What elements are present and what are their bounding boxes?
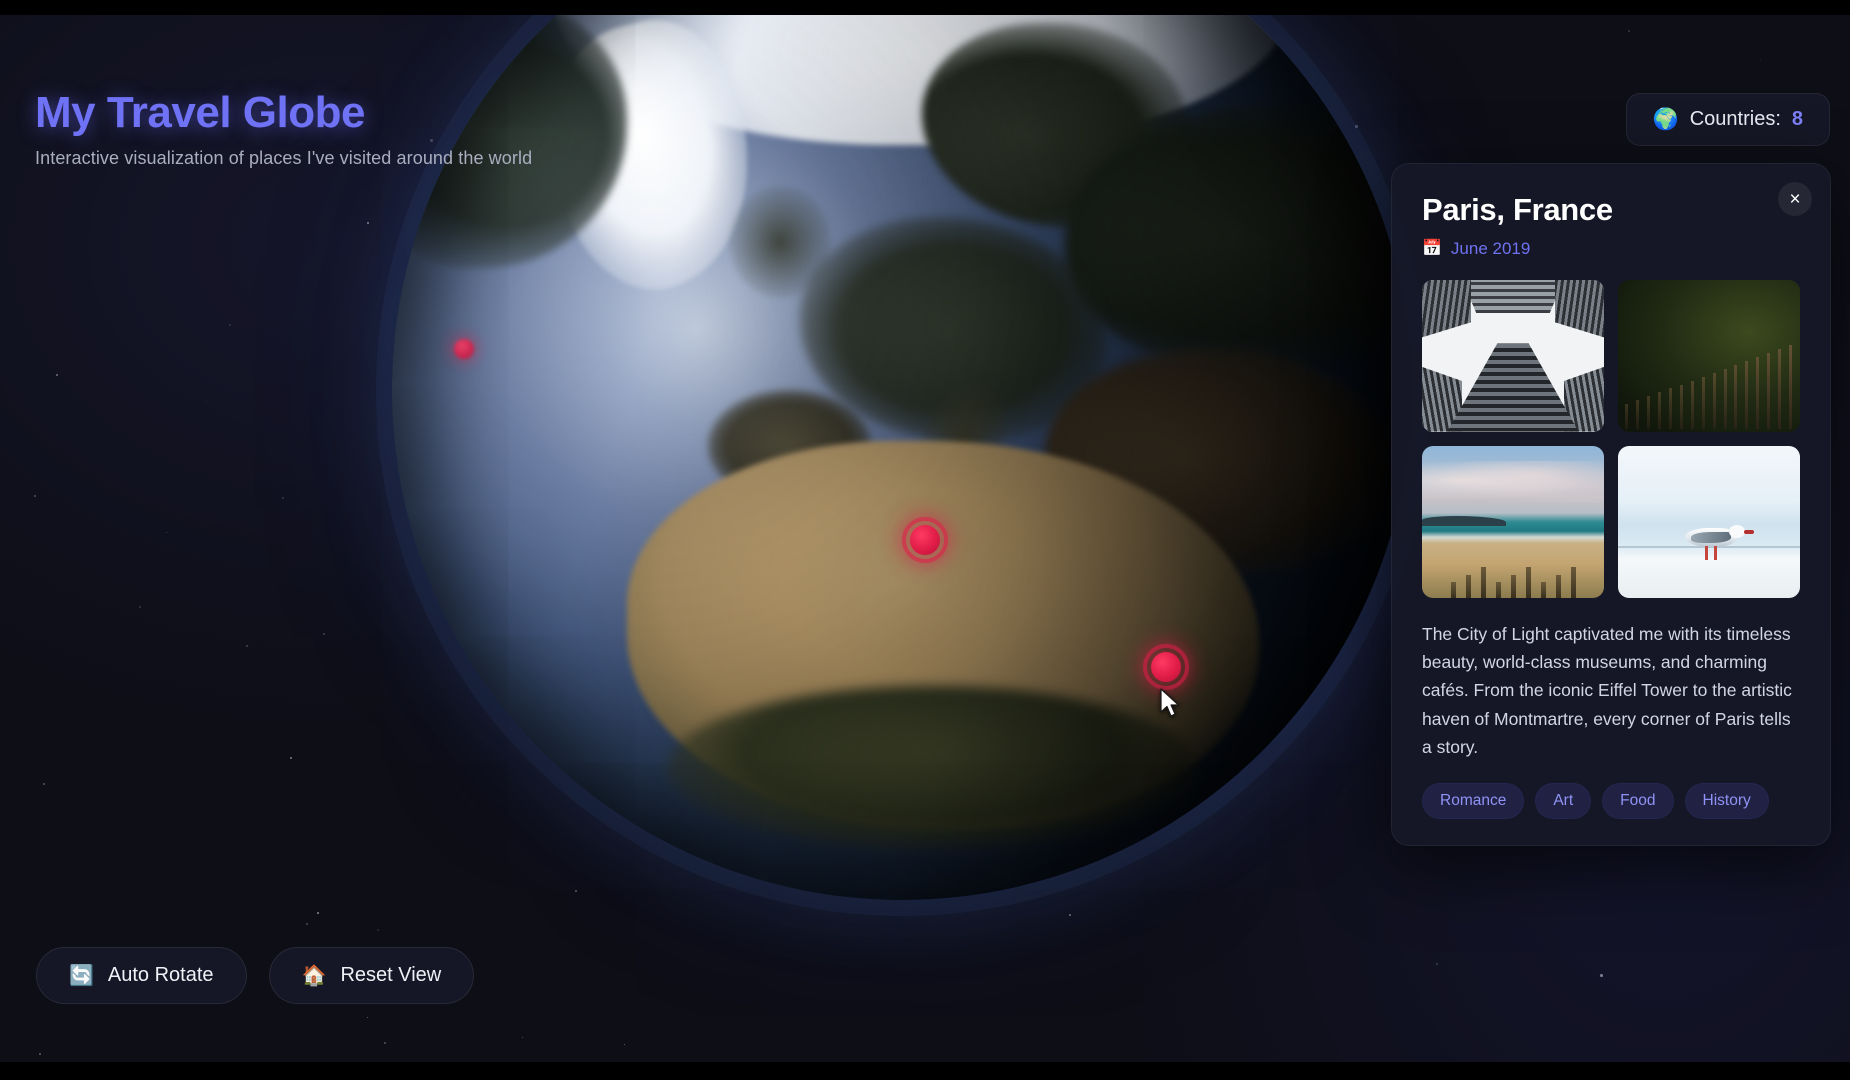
star [34, 495, 36, 497]
star [1760, 59, 1761, 60]
fence-post [1778, 349, 1781, 429]
auto-rotate-button[interactable]: 🔄Auto Rotate [36, 947, 247, 1004]
auto-rotate-button-label: Auto Rotate [108, 964, 214, 987]
globe-icon: 🌍 [1653, 109, 1679, 130]
auto-rotate-icon: 🔄 [69, 966, 94, 986]
star [317, 912, 319, 914]
globe-sphere[interactable] [392, 15, 1412, 900]
star [56, 374, 58, 376]
marker-canada[interactable] [452, 337, 476, 361]
star [624, 1044, 625, 1045]
countries-count-value: 8 [1792, 108, 1803, 131]
photo-skyscrapers[interactable] [1422, 280, 1604, 432]
beach-groyne [1541, 582, 1546, 597]
star [39, 1053, 41, 1055]
fence-post [1789, 345, 1792, 429]
photo-fence-field[interactable] [1618, 280, 1800, 432]
star [323, 633, 325, 635]
location-detail-panel: × Paris, France 📅 June 2019 [1391, 163, 1831, 846]
star [290, 757, 292, 759]
travel-globe-app: My Travel Globe Interactive visualizatio… [0, 0, 1850, 1080]
fence-post [1745, 361, 1748, 429]
star [206, 401, 207, 402]
star [139, 606, 141, 608]
star [1600, 974, 1603, 977]
beach-groyne [1571, 567, 1576, 597]
location-date: 📅 June 2019 [1422, 239, 1800, 259]
calendar-icon: 📅 [1422, 241, 1442, 257]
close-icon[interactable]: × [1778, 182, 1812, 216]
marker-dot [454, 339, 474, 359]
star [166, 532, 167, 533]
tag-chip[interactable]: History [1685, 783, 1769, 819]
fence-post [1669, 388, 1672, 428]
location-description: The City of Light captivated me with its… [1422, 620, 1800, 762]
beach-groyne [1466, 575, 1471, 598]
star [306, 923, 308, 925]
marker-paris[interactable] [902, 517, 948, 563]
beach-groyne [1511, 575, 1516, 598]
fence-post [1734, 365, 1737, 429]
marker-dot [1151, 652, 1181, 682]
location-tag-list: RomanceArtFoodHistory [1422, 783, 1800, 819]
beach-groyne [1481, 567, 1486, 597]
fence-post [1724, 369, 1727, 429]
tag-chip[interactable]: Art [1535, 783, 1591, 819]
fence-post [1702, 377, 1705, 429]
globe-stage[interactable]: My Travel Globe Interactive visualizatio… [0, 15, 1850, 1062]
fence-post [1756, 357, 1759, 429]
fence-post [1658, 392, 1661, 428]
photo-grid [1422, 280, 1800, 598]
page-subtitle: Interactive visualization of places I've… [35, 148, 532, 169]
star [377, 929, 379, 931]
tag-chip[interactable]: Food [1602, 783, 1673, 819]
star [522, 1037, 523, 1038]
fence-post [1647, 396, 1650, 428]
marker-dot [910, 525, 940, 555]
reset-view-button[interactable]: 🏠Reset View [269, 947, 475, 1004]
location-title: Paris, France [1422, 192, 1800, 228]
photo-beach[interactable] [1422, 446, 1604, 598]
countries-label: Countries: [1690, 108, 1781, 131]
star [1628, 30, 1630, 32]
fence-post [1713, 373, 1716, 429]
star [384, 1042, 386, 1044]
globe-container[interactable] [392, 15, 1412, 900]
marker-rome[interactable] [1143, 644, 1189, 690]
star [246, 645, 248, 647]
star [1069, 914, 1071, 916]
beach-groyne [1556, 575, 1561, 598]
reset-view-button-label: Reset View [340, 964, 441, 987]
fence-post [1636, 400, 1639, 428]
globe-controls: 🔄Auto Rotate🏠Reset View [36, 947, 474, 1004]
beach-groyne [1526, 567, 1531, 597]
star [43, 783, 45, 785]
photo-seagull[interactable] [1618, 446, 1800, 598]
star [367, 222, 369, 224]
star [367, 1017, 368, 1018]
tag-chip[interactable]: Romance [1422, 783, 1524, 819]
globe-limb-darkening [392, 15, 1412, 900]
beach-groyne [1496, 582, 1501, 597]
beach-groyne [1451, 582, 1456, 597]
fence-post [1680, 385, 1683, 429]
fence-post [1767, 353, 1770, 429]
location-date-text: June 2019 [1451, 239, 1530, 259]
fence-post [1625, 404, 1628, 428]
reset-view-icon: 🏠 [302, 966, 327, 986]
letterbox-bottom [0, 1062, 1850, 1080]
countries-badge: 🌍 Countries: 8 [1626, 93, 1830, 146]
star [229, 324, 231, 326]
star [1436, 963, 1438, 965]
page-title: My Travel Globe [35, 90, 532, 136]
page-header: My Travel Globe Interactive visualizatio… [35, 90, 532, 169]
letterbox-top [0, 0, 1850, 15]
fence-post [1691, 381, 1694, 429]
star [282, 497, 284, 499]
